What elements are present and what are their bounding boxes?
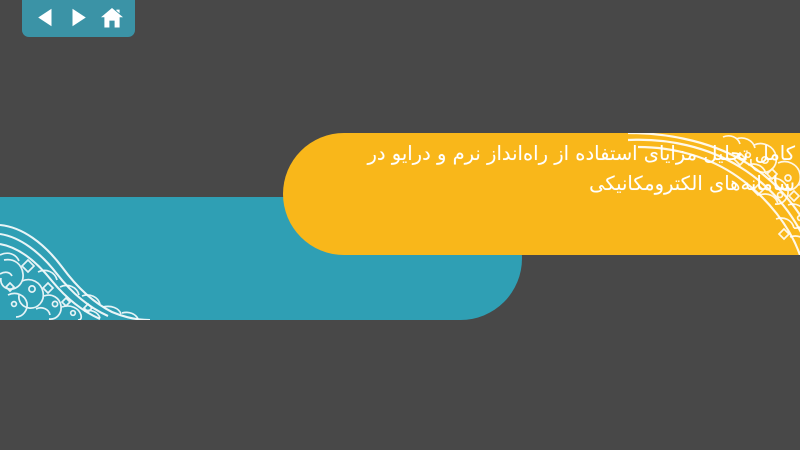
slide-navigation-bar bbox=[22, 0, 135, 37]
triangle-right-icon bbox=[70, 8, 87, 27]
previous-slide-button[interactable] bbox=[32, 5, 60, 31]
arabesque-corner-ornament-mirrored-icon bbox=[0, 197, 150, 320]
title-accent-band: کامل تحلیل مزایای استفاده از راه‌انداز ن… bbox=[283, 133, 800, 255]
page-title: کامل تحلیل مزایای استفاده از راه‌انداز ن… bbox=[325, 139, 795, 199]
home-button[interactable] bbox=[98, 5, 126, 31]
slide-canvas: کامل تحلیل مزایای استفاده از راه‌انداز ن… bbox=[0, 0, 800, 450]
triangle-left-icon bbox=[37, 8, 54, 27]
home-icon bbox=[100, 7, 124, 29]
next-slide-button[interactable] bbox=[65, 5, 93, 31]
